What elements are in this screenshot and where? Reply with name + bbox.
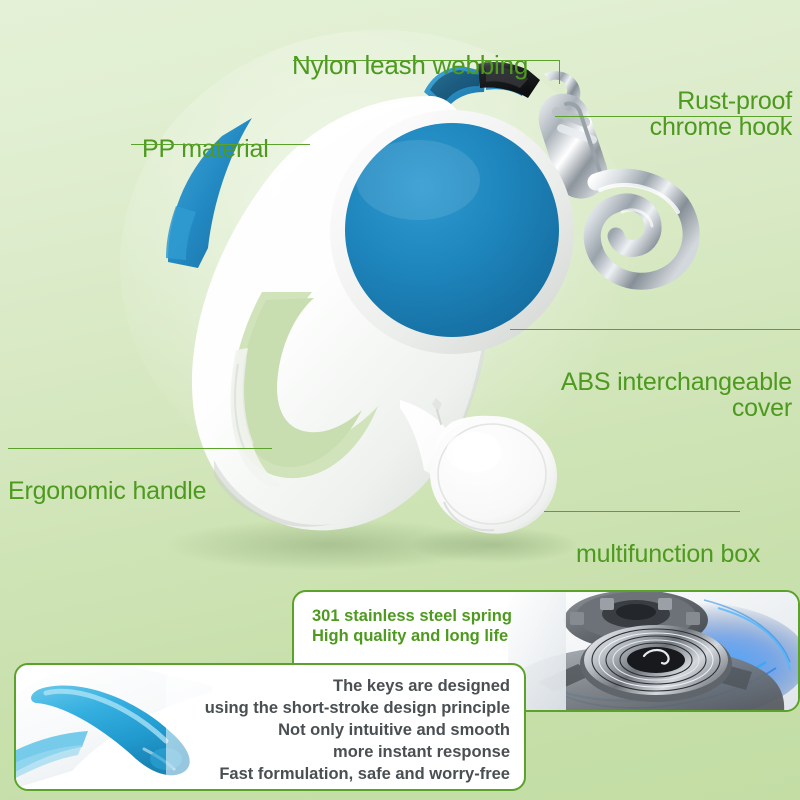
callout-abs-label: ABS interchangeable cover	[528, 369, 792, 421]
panel-short-stroke-keys: The keys are designed using the short-st…	[14, 663, 526, 791]
callout-ergonomic-handle: Ergonomic handle	[8, 452, 206, 530]
callout-multi-rule	[544, 511, 740, 512]
callout-pp-material: PP material	[142, 110, 269, 188]
handle-hole	[231, 292, 378, 478]
spring-mechanism-photo	[508, 592, 798, 710]
callout-rust-label: Rust-proof chrome hook	[592, 88, 792, 140]
keys-panel-text: The keys are designed using the short-st…	[16, 676, 510, 786]
callout-pp-rule	[131, 144, 310, 145]
bridge-seam	[432, 398, 442, 412]
callout-rust-rule	[592, 116, 792, 117]
callout-nylon-leader	[559, 60, 560, 84]
body-bridge	[400, 400, 463, 492]
callout-nylon-leash-webbing: Nylon leash webbing	[292, 25, 528, 106]
spiral-spring	[580, 625, 732, 702]
callout-nylon-rule	[293, 60, 560, 61]
product-shadow	[165, 519, 495, 571]
hook-ring	[592, 177, 691, 281]
callout-rust-leader	[555, 116, 595, 117]
abs-cover	[345, 123, 559, 337]
callout-rust-proof-hook: Rust-proof chrome hook	[592, 62, 792, 166]
callout-abs-rule	[510, 329, 800, 330]
callout-pp-label: PP material	[142, 136, 269, 162]
callout-ergo-label: Ergonomic handle	[8, 478, 206, 504]
callout-ergo-rule	[8, 448, 272, 449]
callout-multi-label: multifunction box	[576, 541, 760, 567]
spring-panel-text: 301 stainless steel spring High quality …	[312, 606, 512, 646]
callout-nylon-label: Nylon leash webbing	[292, 52, 528, 79]
callout-multifunction-box: multifunction box	[576, 515, 760, 593]
cover-ring	[330, 110, 574, 354]
infographic-canvas: Nylon leash webbing Rust-proof chrome ho…	[0, 0, 800, 800]
handle-grip-pad	[230, 348, 284, 487]
callout-abs-cover: ABS interchangeable cover	[528, 343, 792, 447]
